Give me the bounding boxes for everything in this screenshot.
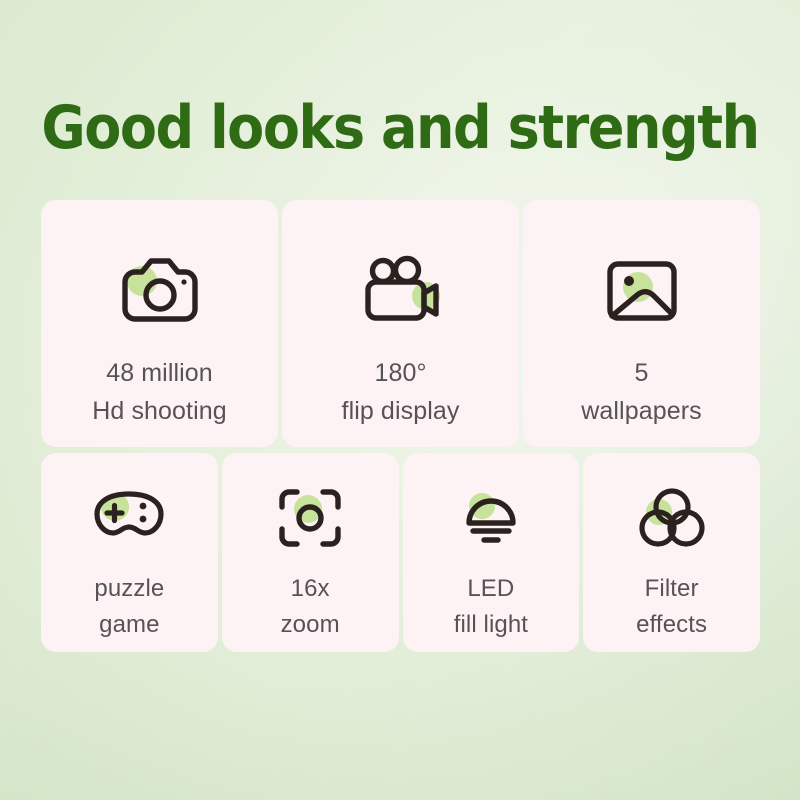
image-picture-icon: [605, 258, 679, 324]
feature-row-bottom: puzzle game 16x zo: [41, 453, 760, 652]
feature-label: 16x zoom: [281, 571, 340, 643]
feature-label: puzzle game: [94, 571, 164, 643]
feature-card-flip-display[interactable]: 180° flip display: [282, 200, 519, 447]
page-title: Good looks and strength: [40, 98, 760, 158]
feature-card-led-fill-light[interactable]: LED fill light: [403, 453, 580, 652]
feature-row-top: 48 million Hd shooting 180° flip: [41, 200, 760, 447]
icon-container: [597, 252, 687, 330]
icon-container: [89, 483, 169, 553]
feature-card-wallpapers[interactable]: 5 wallpapers: [523, 200, 760, 447]
feature-label: 48 million Hd shooting: [92, 354, 227, 430]
color-filter-circles-icon: [637, 487, 707, 549]
feature-label: Filter effects: [636, 571, 707, 643]
camera-icon: [119, 257, 201, 325]
lightbulb-icon: [460, 487, 522, 549]
feature-grid: 48 million Hd shooting 180° flip: [41, 200, 760, 652]
icon-container: [270, 483, 350, 553]
gamepad-icon: [91, 489, 167, 547]
feature-label: 180° flip display: [342, 354, 460, 430]
feature-card-filter-effects[interactable]: Filter effects: [583, 453, 760, 652]
feature-poster: Good looks and strength 48 million Hd sh: [0, 0, 800, 800]
feature-label: LED fill light: [454, 571, 528, 643]
feature-card-puzzle-game[interactable]: puzzle game: [41, 453, 218, 652]
icon-container: [115, 252, 205, 330]
focus-frame-icon: [277, 487, 343, 549]
feature-label: 5 wallpapers: [581, 354, 702, 430]
icon-container: [632, 483, 712, 553]
video-camera-icon: [359, 257, 443, 325]
icon-container: [356, 252, 446, 330]
icon-container: [451, 483, 531, 553]
feature-card-zoom[interactable]: 16x zoom: [222, 453, 399, 652]
feature-card-hd-shooting[interactable]: 48 million Hd shooting: [41, 200, 278, 447]
